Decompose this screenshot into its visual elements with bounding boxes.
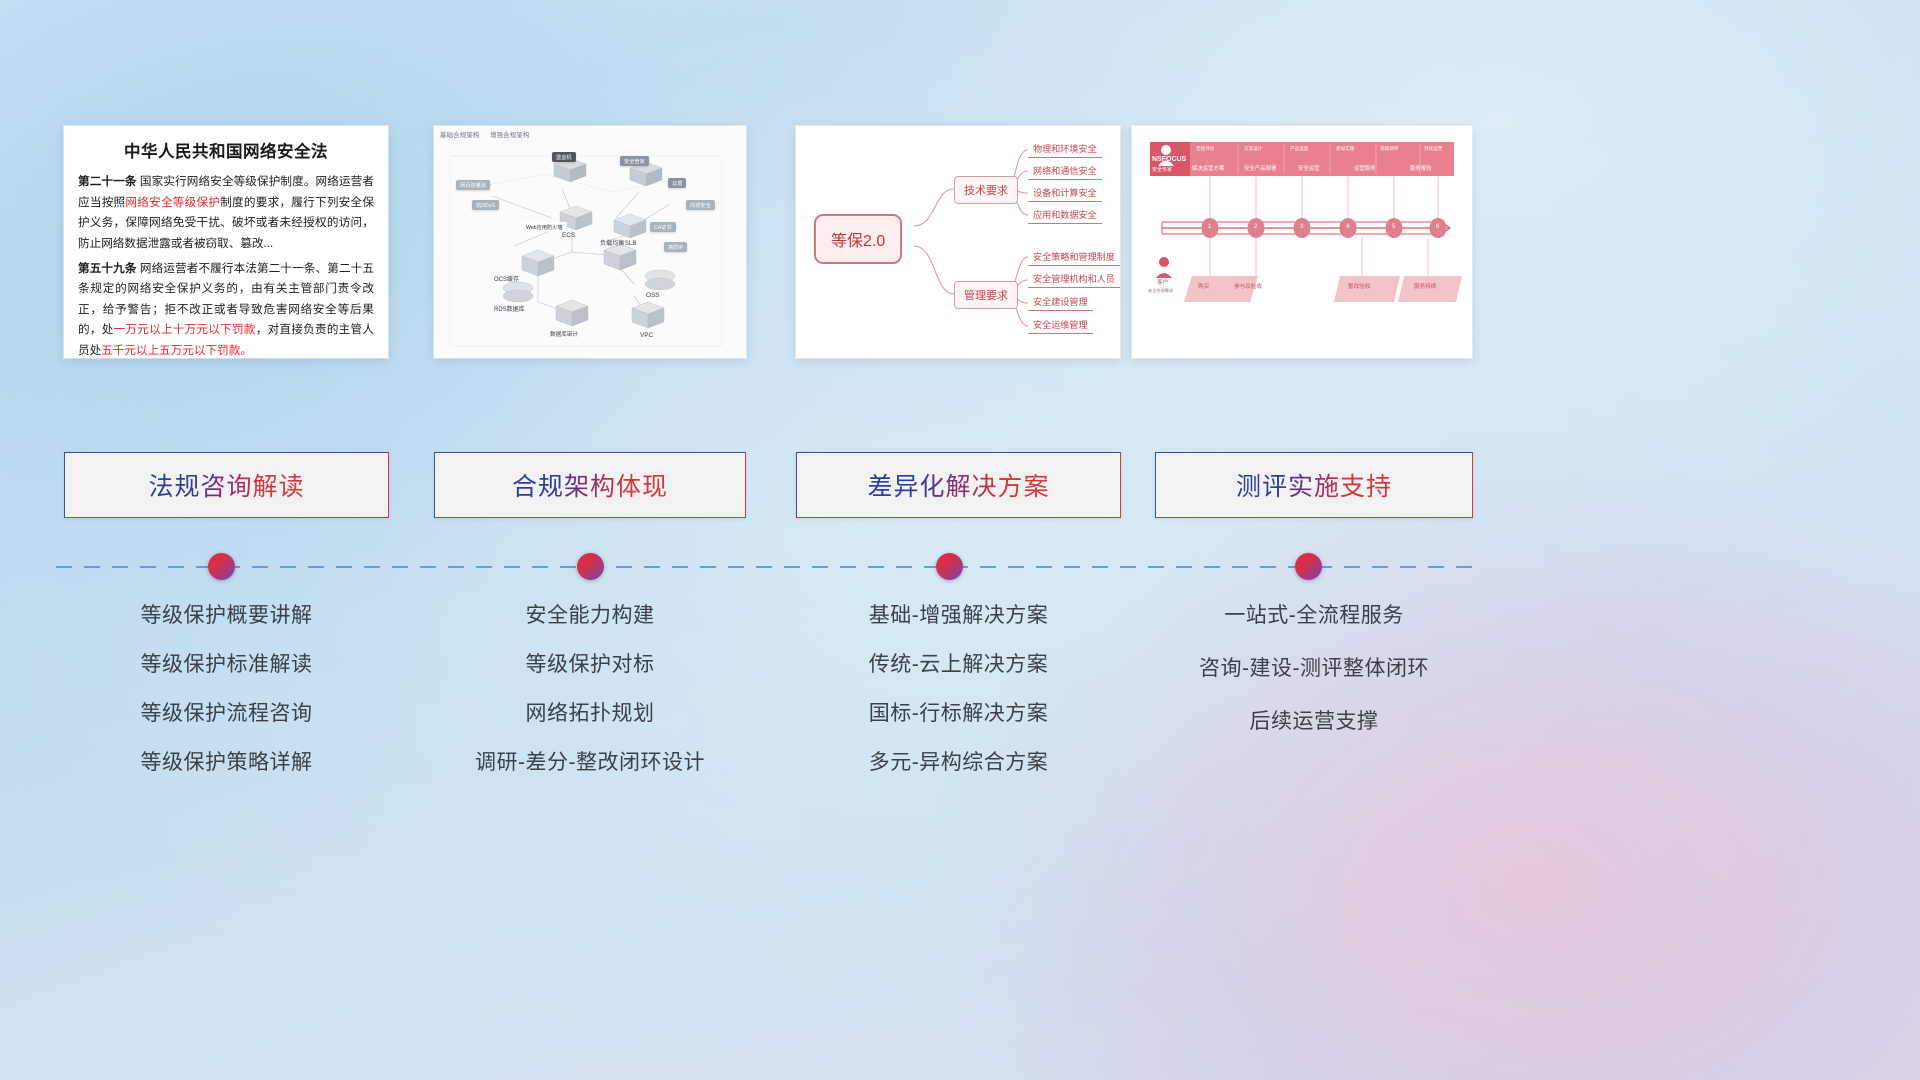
detail-item: 调研-差分-整改闭环设计 — [434, 752, 746, 773]
mindmap-item-network: 网络和通信安全 — [1028, 161, 1102, 180]
detail-item: 等级保护流程咨询 — [64, 703, 389, 724]
law-p2-highlight-1: 一万元以上十万元以下罚款 — [114, 323, 256, 336]
detail-item: 后续运营支撑 — [1155, 711, 1473, 732]
timeline-dot-3[interactable] — [936, 553, 963, 580]
card-mindmap[interactable]: 等保2.0 技术要求 管理要求 物理和环境安全 网络和通信安全 设备和计算安全 … — [796, 126, 1120, 358]
nsfocus-band-4: 运营服务 — [1354, 164, 1376, 172]
label-boxes-row: 法规咨询解读 合规架构体现 差异化解决方案 测评实施支持 — [0, 452, 1920, 518]
label-box-compliance-architecture[interactable]: 合规架构体现 — [434, 452, 746, 518]
architecture-canvas: 基础合规架构 增强合规架构 — [434, 126, 746, 358]
detail-item: 网络拓扑规划 — [434, 703, 746, 724]
arch-node-highdefense-ip: 高防IP — [664, 242, 687, 252]
arch-node-db-audit: 数据库审计 — [550, 330, 578, 338]
detail-item: 咨询-建设-测评整体闭环 — [1155, 658, 1473, 679]
cards-row: 中华人民共和国网络安全法 第二十一条 国家实行网络安全等级保护制度。网络运营者应… — [0, 126, 1920, 358]
detail-item: 一站式-全流程服务 — [1155, 605, 1473, 626]
nsfocus-canvas: NSFOCUS 安全专家 定级评估 方案设计 产品选型 建设实施 等级测评 持续… — [1132, 126, 1472, 358]
law-title: 中华人民共和国网络安全法 — [78, 138, 374, 162]
card-nsfocus-process[interactable]: NSFOCUS 安全专家 定级评估 方案设计 产品选型 建设实施 等级测评 持续… — [1132, 126, 1472, 358]
label-box-differentiated-solution[interactable]: 差异化解决方案 — [796, 452, 1121, 518]
nsfocus-bottom-rectify: 整改验收 — [1348, 282, 1370, 290]
nsfocus-topstep-1: 定级评估 — [1196, 146, 1214, 152]
arch-node-ocs: OCS缓存 — [494, 274, 519, 283]
nsfocus-bottom-participate: 参与及验收 — [1234, 282, 1262, 290]
detail-item: 等级保护策略详解 — [64, 752, 389, 773]
nsfocus-band-1: 解决运营方案 — [1192, 164, 1224, 172]
detail-column-4: 一站式-全流程服务 咨询-建设-测评整体闭环 后续运营支撑 — [1155, 605, 1473, 764]
detail-item: 多元-异构综合方案 — [796, 752, 1121, 773]
nsfocus-topstep-4: 建设实施 — [1336, 146, 1354, 152]
arch-node-security-manager: 安全管家 — [620, 156, 649, 166]
arch-node-waf: Web应用防火墙 — [522, 222, 567, 232]
mindmap-branch-management: 管理要求 — [954, 281, 1018, 309]
mindmap-item-construction: 安全建设管理 — [1028, 292, 1093, 311]
law-article-1: 第二十一条 — [78, 175, 137, 188]
timeline — [56, 566, 1472, 568]
nsfocus-topstep-2: 方案设计 — [1244, 146, 1262, 152]
mindmap-canvas: 等保2.0 技术要求 管理要求 物理和环境安全 网络和通信安全 设备和计算安全 … — [796, 126, 1120, 358]
arch-node-ca: CA证书 — [650, 222, 676, 232]
detail-item: 国标-行标解决方案 — [796, 703, 1121, 724]
label-text-compliance-architecture: 合规架构体现 — [512, 467, 668, 503]
mindmap-item-application: 应用和数据安全 — [1028, 205, 1102, 224]
law-article-2: 第五十九条 — [78, 262, 137, 275]
mindmap-item-operation: 安全运维管理 — [1028, 315, 1093, 334]
nsfocus-topstep-5: 等级测评 — [1380, 146, 1398, 152]
mindmap-item-org: 安全管理机构和人员 — [1028, 269, 1120, 288]
timeline-dot-4[interactable] — [1295, 553, 1322, 580]
label-box-regulation-consulting[interactable]: 法规咨询解读 — [64, 452, 389, 518]
detail-column-2: 安全能力构建 等级保护对标 网络拓扑规划 调研-差分-整改闭环设计 — [434, 605, 746, 801]
detail-item: 基础-增强解决方案 — [796, 605, 1121, 626]
arch-node-oss: OSS — [646, 292, 660, 299]
timeline-dashed-line — [56, 566, 1472, 568]
arch-node-vpc: VPC — [640, 332, 653, 339]
mindmap-item-policy: 安全策略和管理制度 — [1028, 247, 1120, 266]
label-text-evaluation-support: 测评实施支持 — [1236, 467, 1392, 503]
label-text-differentiated-solution: 差异化解决方案 — [867, 467, 1049, 503]
mindmap-root: 等保2.0 — [814, 214, 902, 264]
nsfocus-brand-line2: 安全专家 — [1152, 166, 1172, 173]
arch-node-bastion: 堡垒机 — [552, 152, 576, 162]
nsfocus-band-3: 安全运营 — [1298, 164, 1320, 172]
nsfocus-bottom-service: 服务持续 — [1414, 282, 1436, 290]
arch-node-slb: 负载均衡SLB — [600, 238, 636, 247]
law-paragraph-1: 第二十一条 国家实行网络安全等级保护制度。网络运营者应当按照网络安全等级保护制度… — [78, 172, 374, 255]
arch-node-antiddos: 抗DDoS — [472, 200, 499, 210]
mindmap-item-physical: 物理和环境安全 — [1028, 139, 1102, 158]
arch-node-antitamper: 网页防篡改 — [456, 180, 490, 190]
detail-item: 传统-云上解决方案 — [796, 654, 1121, 675]
label-box-evaluation-support[interactable]: 测评实施支持 — [1155, 452, 1473, 518]
nsfocus-topstep-6: 持续运营 — [1424, 146, 1442, 152]
mindmap-item-device: 设备和计算安全 — [1028, 183, 1102, 202]
detail-item: 等级保护概要讲解 — [64, 605, 389, 626]
arch-node-content-security: 内容安全 — [686, 200, 715, 210]
law-p1-highlight: 网络安全等级保护 — [125, 196, 220, 209]
nsfocus-band-2: 安全产品部署 — [1244, 164, 1276, 172]
nsfocus-step-num-2: 2 — [1254, 224, 1257, 230]
architecture-connectors — [434, 126, 746, 358]
nsfocus-topstep-3: 产品选型 — [1290, 146, 1308, 152]
label-text-regulation-consulting: 法规咨询解读 — [148, 467, 304, 503]
nsfocus-step-num-3: 3 — [1300, 224, 1303, 230]
nsfocus-step-num-5: 5 — [1392, 224, 1395, 230]
nsfocus-step-num-6: 6 — [1436, 224, 1439, 230]
nsfocus-step-num-4: 4 — [1346, 224, 1349, 230]
detail-columns: 等级保护概要讲解 等级保护标准解读 等级保护流程咨询 等级保护策略详解 安全能力… — [0, 605, 1920, 805]
nsfocus-customer: 客户 — [1157, 278, 1168, 286]
nsfocus-brand-line1: NSFOCUS — [1152, 156, 1186, 164]
detail-column-1: 等级保护概要讲解 等级保护标准解读 等级保护流程咨询 等级保护策略详解 — [64, 605, 389, 801]
mindmap-branch-technical: 技术要求 — [954, 176, 1018, 204]
arch-node-cloud-shield: 云盾 — [668, 178, 686, 188]
detail-item: 等级保护标准解读 — [64, 654, 389, 675]
detail-column-3: 基础-增强解决方案 传统-云上解决方案 国标-行标解决方案 多元-异构综合方案 — [796, 605, 1121, 801]
nsfocus-step-num-1: 1 — [1208, 224, 1211, 230]
arch-node-ecs: ECS — [562, 232, 575, 239]
nsfocus-customer-sub: 安全合规需求 — [1148, 288, 1173, 294]
nsfocus-band-5: 服务报告 — [1410, 164, 1432, 172]
timeline-dot-2[interactable] — [577, 553, 604, 580]
timeline-dot-1[interactable] — [208, 553, 235, 580]
card-law-document[interactable]: 中华人民共和国网络安全法 第二十一条 国家实行网络安全等级保护制度。网络运营者应… — [64, 126, 388, 358]
detail-item: 安全能力构建 — [434, 605, 746, 626]
arch-node-rds: RDS数据库 — [494, 304, 525, 313]
law-document-body: 中华人民共和国网络安全法 第二十一条 国家实行网络安全等级保护制度。网络运营者应… — [64, 126, 388, 358]
law-p2-highlight-2: 五千元以上五万元以下罚款。 — [101, 344, 252, 357]
detail-item: 等级保护对标 — [434, 654, 746, 675]
law-paragraph-2: 第五十九条 网络运营者不履行本法第二十一条、第二十五条规定的网络安全保护义务的，… — [78, 259, 374, 359]
card-architecture-diagram[interactable]: 基础合规架构 增强合规架构 — [434, 126, 746, 358]
nsfocus-bottom-purchase: 购买 — [1198, 282, 1209, 290]
